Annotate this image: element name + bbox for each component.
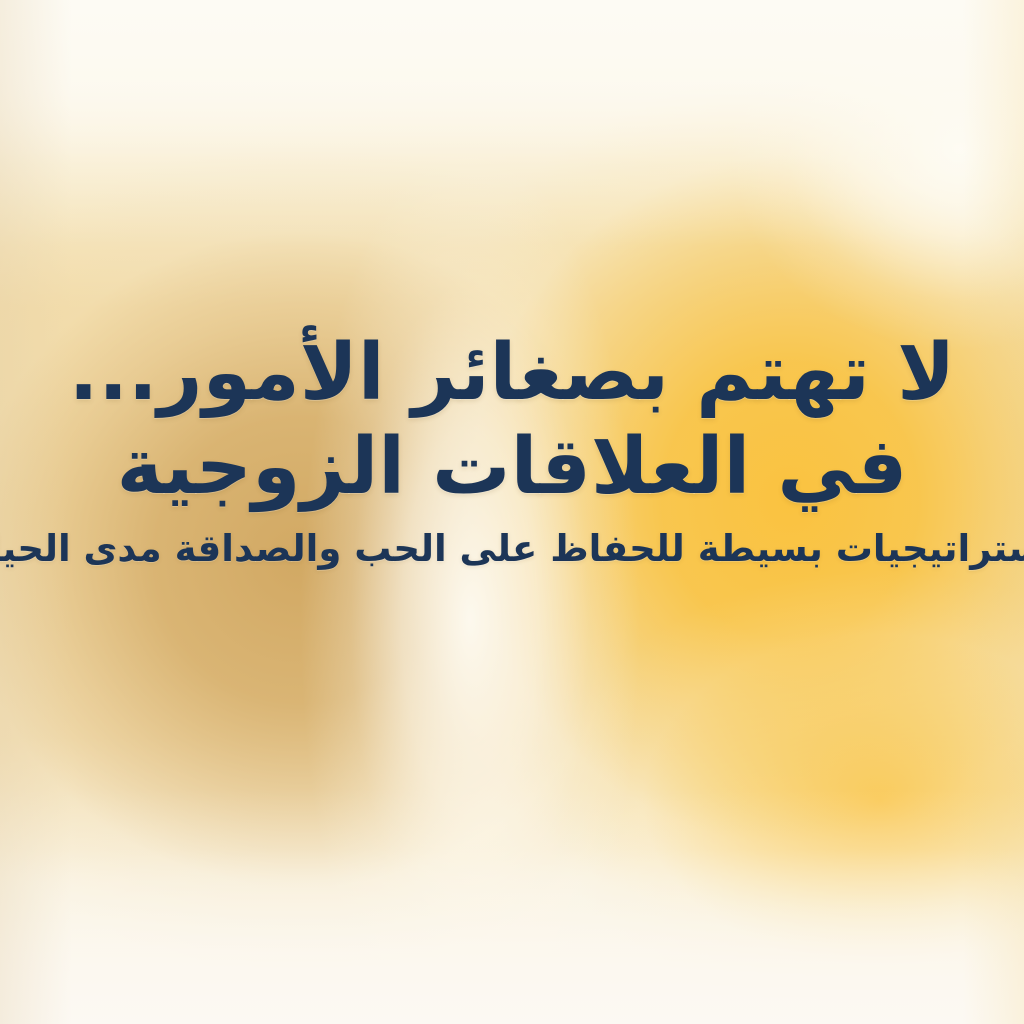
subtitle: استراتيجيات بسيطة للحفاظ على الحب والصدا… xyxy=(0,528,1024,571)
headline-line-2: في العلاقات الزوجية xyxy=(0,428,1024,506)
text-block: لا تهتم بصغائر الأمور... في العلاقات الز… xyxy=(0,0,1024,1024)
quote-poster: لا تهتم بصغائر الأمور... في العلاقات الز… xyxy=(0,0,1024,1024)
headline-line-1: لا تهتم بصغائر الأمور... xyxy=(0,334,1024,412)
